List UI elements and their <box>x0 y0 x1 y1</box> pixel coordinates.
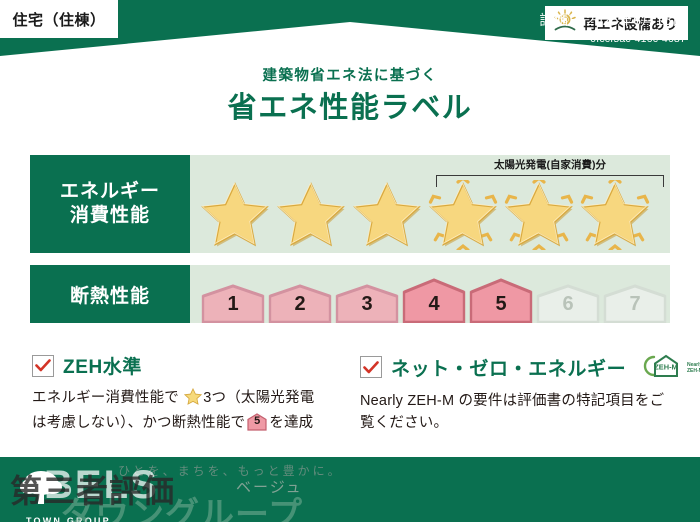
insulation-level-number: 3 <box>361 293 372 323</box>
insulation-level-house: 5 <box>468 277 534 323</box>
evaluation-date: 評価日 2025年6月16日 <box>539 10 686 30</box>
insulation-level-number: 6 <box>562 293 573 323</box>
insulation-level-house: 6 <box>535 283 601 323</box>
net-zero-criteria-header: ネット・ゼロ・エネルギー ZEH-M Nearly ZEH-M <box>360 352 670 382</box>
building-type-label: 住宅（住棟） <box>12 9 105 30</box>
insulation-level-house: 2 <box>267 283 333 323</box>
star-icon-solar <box>426 180 500 250</box>
net-zero-criteria-block: ネット・ゼロ・エネルギー ZEH-M Nearly ZEH-M Nearly Z… <box>360 352 670 435</box>
inline-house-badge: 5 <box>247 413 267 438</box>
insulation-key-label: 断熱性能 <box>70 281 150 308</box>
zeh-text-part3: を達成 <box>269 415 313 431</box>
star-icon <box>198 180 272 250</box>
star-icon <box>350 180 424 250</box>
zeh-text-part2: は考慮しない）、かつ断熱性能で <box>32 415 245 431</box>
insulation-level-panel: 1 2 3 4 5 6 <box>190 265 670 323</box>
insulation-level-house: 1 <box>200 283 266 323</box>
check-icon <box>360 356 382 378</box>
zeh-m-logo: ZEH-M Nearly ZEH-M <box>641 352 700 382</box>
star-icon-solar <box>502 180 576 250</box>
net-zero-criteria-title: ネット・ゼロ・エネルギー <box>391 354 626 381</box>
insulation-level-number: 1 <box>227 293 238 323</box>
evaluation-id: 0fccf5ac-416c-4687 <box>539 33 686 45</box>
energy-performance-key: エネルギー 消費性能 <box>30 155 190 253</box>
inline-house-value: 5 <box>247 413 267 431</box>
svg-text:ZEH-M: ZEH-M <box>687 368 700 374</box>
zeh-criteria-title: ZEH水準 <box>63 352 142 379</box>
label-subtitle: 建築物省エネ法に基づく <box>0 64 700 85</box>
town-group-logo: TOWN GROUP <box>8 466 208 518</box>
energy-performance-label: 住宅（住棟） 再エネ設備あり 建築物省エネ法に基づく 省エネ性能ラベル <box>0 0 700 522</box>
solar-caption: 太陽光発電(自家消費)分 <box>436 157 664 172</box>
check-icon <box>32 355 54 377</box>
star-icon <box>274 180 348 250</box>
svg-text:ZEH-M: ZEH-M <box>655 363 678 372</box>
insulation-level-scale: 1 2 3 4 5 6 <box>200 265 666 323</box>
insulation-performance-row: 断熱性能 1 2 3 4 <box>30 265 670 323</box>
zeh-criteria-text: エネルギー消費性能で 3つ（太陽光発電 は考慮しない）、かつ断熱性能で 5を達成 <box>32 387 342 439</box>
brand-name: TOWN GROUP <box>26 516 111 522</box>
energy-performance-row: エネルギー 消費性能 太陽光発電(自家消費)分 <box>30 155 670 253</box>
insulation-level-number: 4 <box>428 293 439 323</box>
insulation-level-number: 7 <box>629 293 640 323</box>
insulation-level-number: 5 <box>495 293 506 323</box>
zeh-text-part1: エネルギー消費性能で <box>32 390 179 406</box>
zeh-criteria-block: ZEH水準 エネルギー消費性能で 3つ（太陽光発電 は考慮しない）、かつ断熱性能… <box>32 352 342 439</box>
evaluation-info: 評価日 2025年6月16日 0fccf5ac-416c-4687 <box>539 10 686 45</box>
zeh-criteria-header: ZEH水準 <box>32 352 342 379</box>
star-icon-solar <box>578 180 652 250</box>
page-title: 省エネ性能ラベル <box>0 84 700 126</box>
energy-key-line2: 消費性能 <box>70 204 150 228</box>
insulation-level-house: 4 <box>401 277 467 323</box>
star-rating <box>198 181 666 249</box>
solar-bracket <box>436 175 664 187</box>
insulation-level-house: 3 <box>334 283 400 323</box>
energy-key-line1: エネルギー <box>60 180 160 204</box>
insulation-performance-key: 断熱性能 <box>30 265 190 323</box>
insulation-level-number: 2 <box>294 293 305 323</box>
building-type-chip: 住宅（住棟） <box>0 0 118 38</box>
insulation-level-house: 7 <box>602 283 668 323</box>
net-zero-criteria-text: Nearly ZEH-M の要件は評価書の特記項目をご覧ください。 <box>360 390 670 435</box>
inline-star-icon <box>180 393 202 409</box>
energy-star-panel: 太陽光発電(自家消費)分 <box>190 155 670 253</box>
zeh-text-star-count: 3つ（太陽光発電 <box>203 390 314 406</box>
